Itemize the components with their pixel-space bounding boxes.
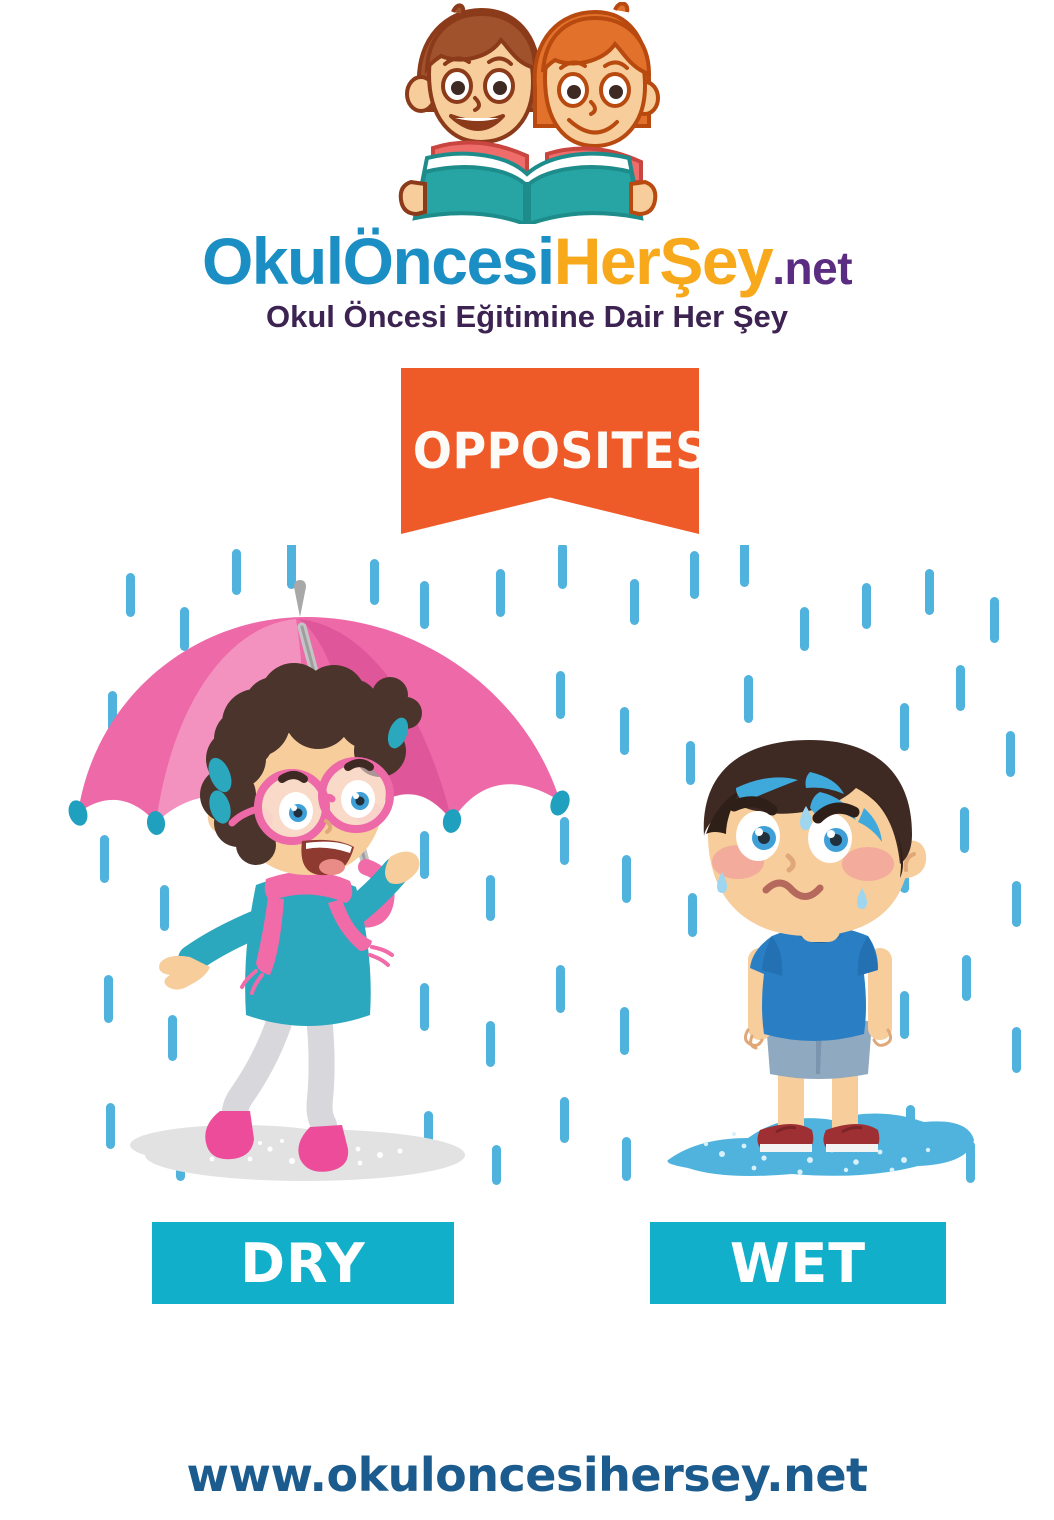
label-dry-text: DRY	[240, 1232, 366, 1295]
label-wet[interactable]: WET	[650, 1222, 946, 1304]
label-dry[interactable]: DRY	[152, 1222, 454, 1304]
opposites-banner: OPPOSITES	[401, 368, 699, 534]
girl-with-umbrella-in-rain	[60, 555, 580, 1195]
footer-website-url[interactable]: www.okuloncesihersey.net	[0, 1448, 1054, 1502]
wet-boy-standing-in-rain	[660, 730, 980, 1200]
two-children-reading-book-icon	[389, 2, 665, 224]
logo-wordmark-part1: OkulÖncesi	[202, 224, 554, 298]
label-wet-text: WET	[730, 1232, 866, 1295]
illustration-scene	[0, 545, 1054, 1205]
banner-title: OPPOSITES	[413, 422, 687, 480]
logo-wordmark: OkulÖncesiHerŞey.net	[0, 222, 1054, 307]
logo-wordmark-part3: .net	[772, 242, 852, 294]
logo-block: OkulÖncesiHerŞey.net Okul Öncesi Eğitimi…	[0, 0, 1054, 345]
logo-tagline: Okul Öncesi Eğitimine Dair Her Şey	[0, 299, 1054, 335]
logo-wordmark-part2: HerŞey	[554, 224, 773, 298]
